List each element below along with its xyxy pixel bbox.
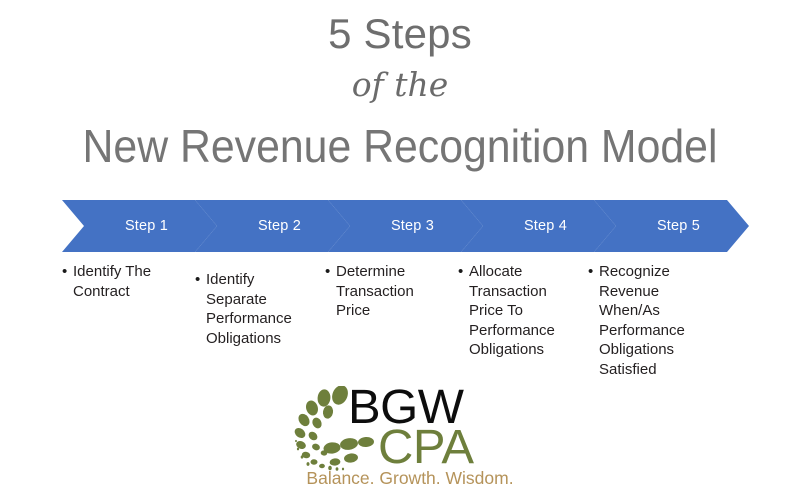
chevron-step-1[interactable]: Step 1 — [62, 200, 217, 252]
process-chevron-band: Step 1 Step 2 Step 3 Step 4 Step 5 — [62, 200, 726, 252]
bullet-dot-icon: • — [458, 262, 469, 282]
step-5-description-text: Recognize Revenue When/As Performance Ob… — [599, 262, 685, 379]
chevron-step-5-label: Step 5 — [643, 218, 700, 234]
chevron-step-3[interactable]: Step 3 — [328, 200, 483, 252]
list-item: • Identify The Contract — [62, 262, 187, 301]
chevron-step-2[interactable]: Step 2 — [195, 200, 350, 252]
step-description-columns: • Identify The Contract • Identify Separ… — [62, 262, 742, 392]
logo-text-cpa: CPA — [378, 424, 474, 472]
chevron-step-4[interactable]: Step 4 — [461, 200, 616, 252]
list-item: • Determine Transaction Price — [325, 262, 450, 321]
step-3-description-text: Determine Transaction Price — [336, 262, 414, 321]
logo-tagline: Balance. Growth. Wisdom. — [292, 470, 528, 488]
bgw-cpa-wordmark: BGW CPA — [348, 384, 538, 472]
page-title-secondary: New Revenue Recognition Model — [28, 120, 772, 173]
list-item: • Allocate Transaction Price To Performa… — [458, 262, 583, 360]
bullet-dot-icon: • — [195, 270, 206, 290]
chevron-step-4-label: Step 4 — [510, 218, 567, 234]
step-2-description: • Identify Separate Performance Obligati… — [195, 270, 320, 348]
infographic-canvas: 5 Steps of the New Revenue Recognition M… — [0, 0, 800, 500]
step-3-description: • Determine Transaction Price — [325, 262, 450, 321]
chevron-step-5[interactable]: Step 5 — [594, 200, 749, 252]
list-item: • Identify Separate Performance Obligati… — [195, 270, 320, 348]
page-title-script: of the — [0, 68, 800, 101]
step-4-description-text: Allocate Transaction Price To Performanc… — [469, 262, 555, 360]
chevron-step-2-label: Step 2 — [244, 218, 301, 234]
step-2-description-text: Identify Separate Performance Obligation… — [206, 270, 292, 348]
bgw-cpa-logo: BGW CPA Balance. Growth. Wisdom. — [288, 386, 528, 496]
bullet-dot-icon: • — [588, 262, 599, 282]
step-1-description: • Identify The Contract — [62, 262, 187, 301]
step-5-description: • Recognize Revenue When/As Performance … — [588, 262, 718, 379]
bullet-dot-icon: • — [325, 262, 336, 282]
chevron-step-3-label: Step 3 — [377, 218, 434, 234]
list-item: • Recognize Revenue When/As Performance … — [588, 262, 718, 379]
bullet-dot-icon: • — [62, 262, 73, 282]
step-1-description-text: Identify The Contract — [73, 262, 151, 301]
chevron-step-1-label: Step 1 — [111, 218, 168, 234]
page-title-primary: 5 Steps — [0, 13, 800, 55]
step-4-description: • Allocate Transaction Price To Performa… — [458, 262, 583, 360]
